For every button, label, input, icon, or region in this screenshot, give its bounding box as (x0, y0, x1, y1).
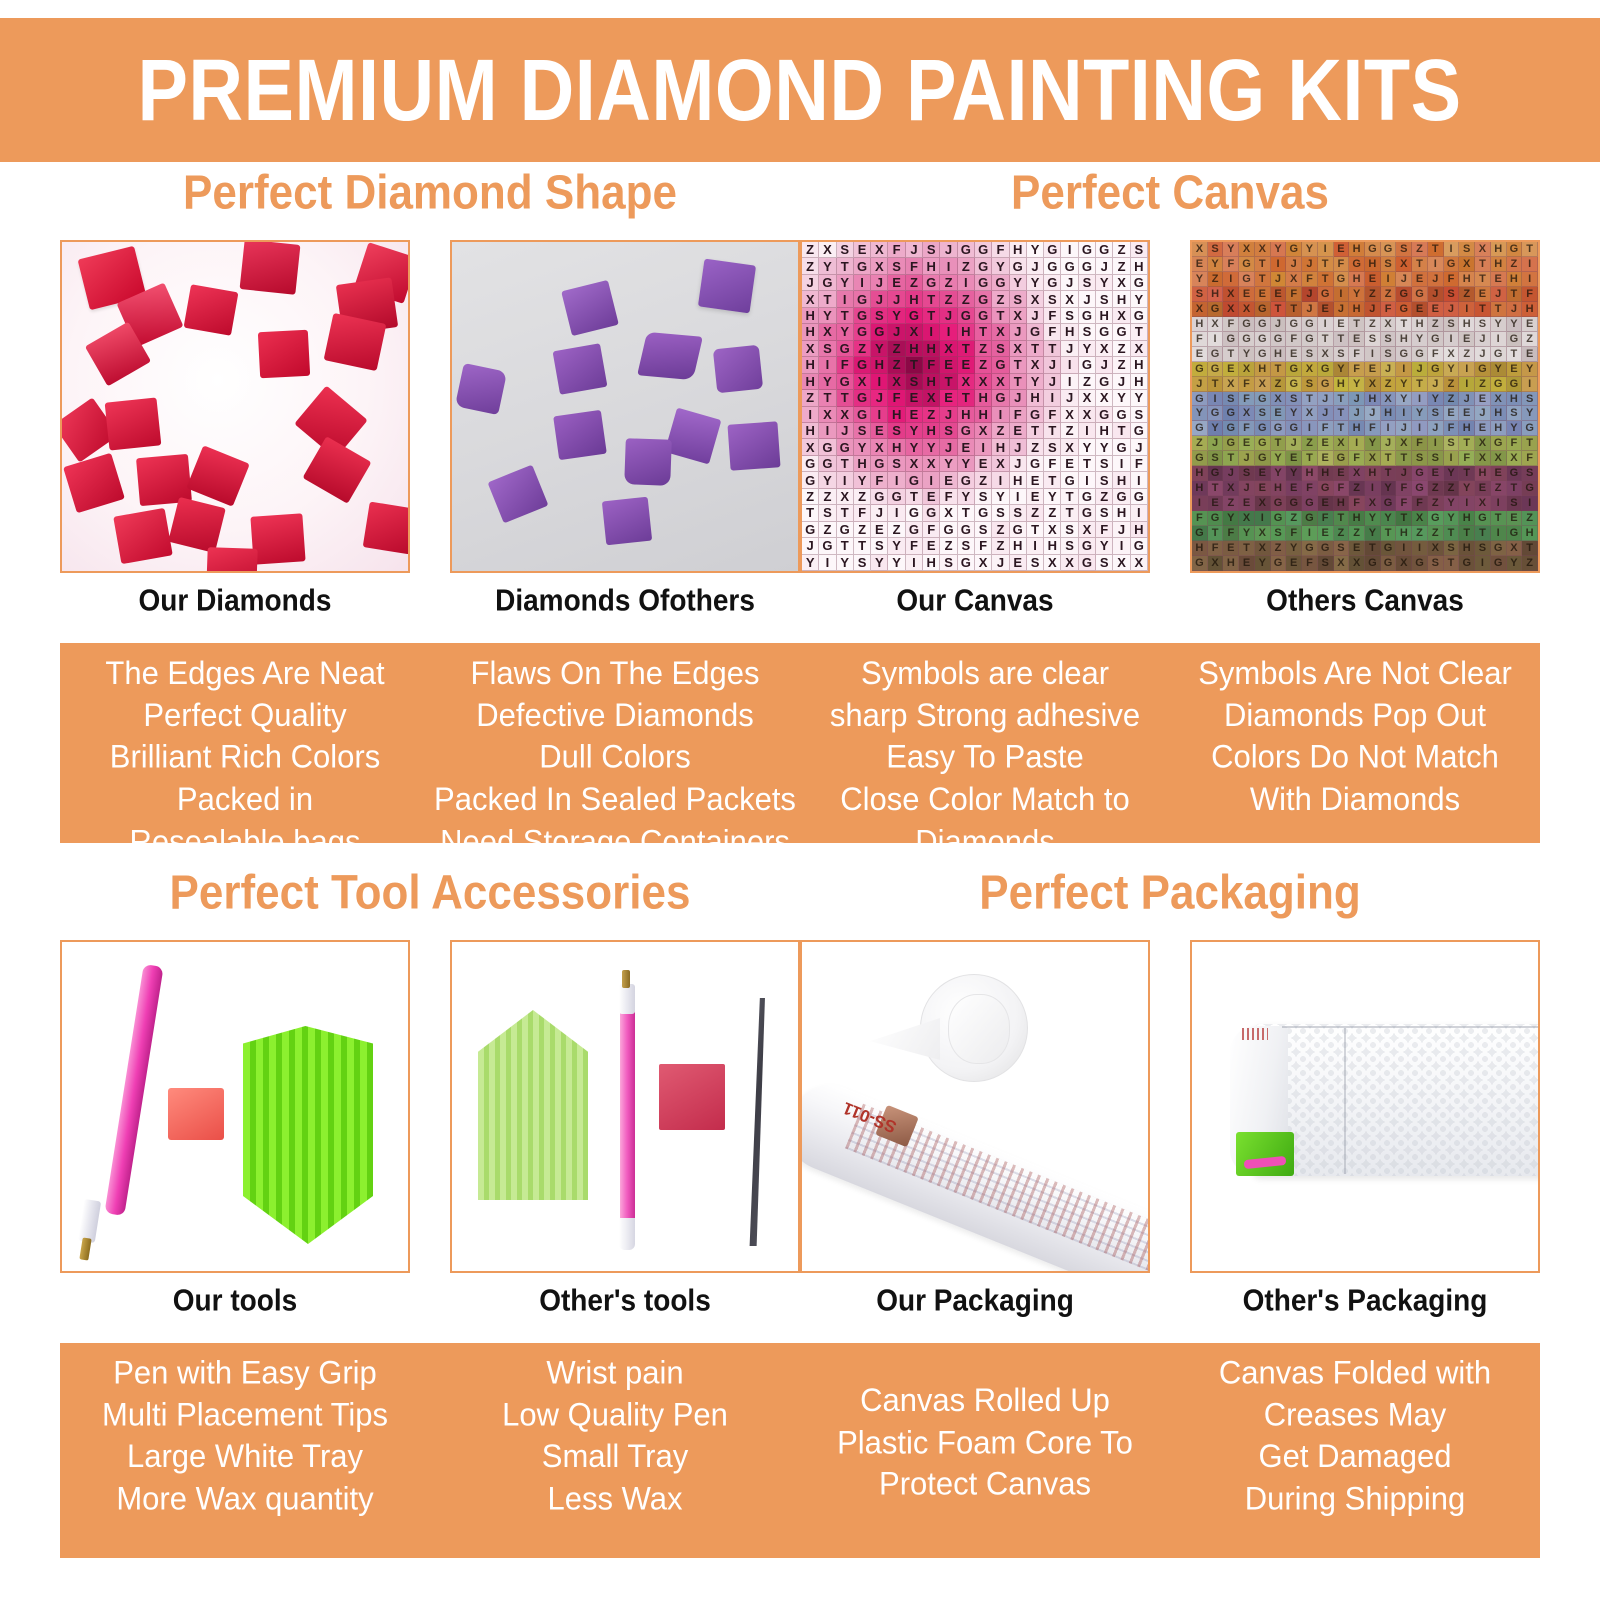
canvas-symbol-cell: H (1192, 466, 1208, 481)
canvas-symbol-cell: H (1491, 421, 1507, 436)
canvas-symbol-cell: F (871, 472, 888, 488)
canvas-symbol-cell: S (1192, 287, 1208, 302)
canvas-symbol-cell: I (819, 423, 836, 439)
canvas-symbol-cell: E (1318, 451, 1334, 466)
canvas-symbol-cell: T (819, 390, 836, 406)
bubble-mailer-crease2-shape (1344, 1028, 1346, 1174)
canvas-symbol-cell: Y (854, 472, 871, 488)
canvas-symbol-cell: T (1255, 272, 1271, 287)
bullet-item: Defective Diamonds (434, 694, 796, 736)
canvas-symbol-cell: F (1349, 451, 1365, 466)
canvas-symbol-cell: G (819, 456, 836, 472)
canvas-symbol-cell: S (940, 423, 957, 439)
canvas-symbol-cell: Z (1475, 377, 1491, 392)
canvas-symbol-cell: T (958, 390, 975, 406)
tweezers-shape (740, 998, 772, 1246)
canvas-symbol-cell: X (1302, 406, 1318, 421)
canvas-symbol-cell: Y (1444, 496, 1460, 511)
canvas-symbol-cell: G (1255, 317, 1271, 332)
canvas-symbol-cell: S (819, 505, 836, 521)
canvas-symbol-cell: Y (1079, 341, 1096, 357)
canvas-symbol-cell: J (802, 538, 819, 554)
canvas-symbol-cell: G (1318, 377, 1334, 392)
canvas-symbol-cell: X (1475, 436, 1491, 451)
section-canvas: Perfect Canvas ZXSEXFJSJGGFHYGIGGZSZYTGX… (800, 168, 1540, 843)
canvas-symbol-cell: E (1255, 287, 1271, 302)
canvas-symbol-cell: X (992, 456, 1009, 472)
canvas-symbol-cell: G (1302, 541, 1318, 556)
canvas-symbol-cell: X (1096, 341, 1113, 357)
canvas-symbol-cell: G (1396, 347, 1412, 362)
canvas-symbol-cell: G (1061, 472, 1078, 488)
canvas-symbol-cell: S (992, 341, 1009, 357)
canvas-symbol-cell: H (1475, 466, 1491, 481)
canvas-symbol-cell: E (1428, 302, 1444, 317)
pink-pen-shape (104, 964, 163, 1216)
canvas-symbol-cell: G (975, 505, 992, 521)
canvas-symbol-cell: Y (906, 423, 923, 439)
canvas-symbol-cell: T (1507, 287, 1523, 302)
canvas-symbol-cell: I (819, 555, 836, 571)
canvas-symbol-cell: S (1381, 347, 1397, 362)
canvas-symbol-cell: Y (1302, 242, 1318, 257)
canvas-symbol-cell: Y (1044, 489, 1061, 505)
canvas-symbol-cell: Y (1131, 291, 1148, 307)
canvas-symbol-cell: J (1428, 287, 1444, 302)
canvas-symbol-cell: X (1223, 481, 1239, 496)
canvas-symbol-cell: H (958, 324, 975, 340)
canvas-symbol-cell: S (1079, 275, 1096, 291)
header-banner: PREMIUM DIAMOND PAINTING KITS (0, 18, 1600, 162)
canvas-symbol-cell: T (837, 456, 854, 472)
canvas-symbol-cell: G (1255, 347, 1271, 362)
canvas-symbol-cell: X (975, 423, 992, 439)
canvas-symbol-cell: I (975, 439, 992, 455)
canvas-symbol-cell: E (1239, 496, 1255, 511)
canvas-symbol-cell: G (1396, 302, 1412, 317)
mailer-label-strip-shape (1242, 1028, 1268, 1040)
canvas-symbol-cell: S (1507, 406, 1523, 421)
canvas-symbol-cell: I (1349, 436, 1365, 451)
canvas-symbol-cell: F (1044, 324, 1061, 340)
canvas-symbol-cell: H (1349, 421, 1365, 436)
canvas-symbol-cell: J (837, 423, 854, 439)
canvas-symbol-cell: Z (1522, 556, 1538, 571)
canvas-symbol-cell: G (1318, 287, 1334, 302)
canvas-symbol-cell: T (1318, 272, 1334, 287)
canvas-symbol-cell: E (975, 456, 992, 472)
canvas-symbol-cell: I (1271, 257, 1287, 272)
canvas-symbol-cell: I (1302, 526, 1318, 541)
canvas-symbol-cell: S (1131, 407, 1148, 423)
bullets-other-packaging: Canvas Folded with Creases May Get Damag… (1170, 1352, 1540, 1546)
canvas-symbol-cell: Z (1428, 496, 1444, 511)
canvas-symbol-cell: E (958, 357, 975, 373)
canvas-symbol-cell: H (1131, 374, 1148, 390)
canvas-symbol-cell: G (958, 555, 975, 571)
canvas-symbol-cell: H (1522, 526, 1538, 541)
canvas-symbol-cell: G (1334, 272, 1350, 287)
canvas-symbol-cell: X (1396, 556, 1412, 571)
section-diamond-shape: Perfect Diamond Shape (60, 168, 800, 843)
canvas-symbol-cell: T (1131, 324, 1148, 340)
canvas-symbol-cell: J (1396, 421, 1412, 436)
canvas-symbol-cell: I (1491, 496, 1507, 511)
canvas-symbol-cell: H (888, 407, 905, 423)
canvas-symbol-cell: X (1428, 541, 1444, 556)
small-green-tray-shape (478, 1010, 588, 1200)
infographic-page: PREMIUM DIAMOND PAINTING KITS Perfect Di… (0, 0, 1600, 1600)
canvas-symbol-cell: Y (819, 258, 836, 274)
other-tools-photo (450, 940, 800, 1273)
bullets-box-diamond-shape: The Edges Are Neat Perfect Quality Brill… (60, 643, 800, 843)
canvas-symbol-cell: Z (940, 538, 957, 554)
red-square-diamonds-photo (60, 240, 410, 573)
canvas-symbol-cell: E (923, 489, 940, 505)
canvas-symbol-cell: G (1491, 377, 1507, 392)
canvas-symbol-cell: S (1444, 317, 1460, 332)
canvas-symbol-cell: T (1044, 472, 1061, 488)
canvas-symbol-cell: H (1255, 362, 1271, 377)
canvas-symbol-cell: E (1365, 272, 1381, 287)
other-wax-square-shape (659, 1064, 725, 1130)
canvas-symbol-cell: T (975, 324, 992, 340)
canvas-symbol-cell: G (1027, 324, 1044, 340)
canvas-symbol-cell: Y (1239, 526, 1255, 541)
canvas-symbol-cell: T (1079, 456, 1096, 472)
canvas-symbol-cell: G (1491, 347, 1507, 362)
canvas-symbol-cell: H (802, 423, 819, 439)
canvas-symbol-cell: F (1208, 541, 1224, 556)
canvas-symbol-cell: E (1239, 436, 1255, 451)
canvas-symbol-cell: I (1475, 556, 1491, 571)
canvas-symbol-cell: J (1302, 287, 1318, 302)
canvas-symbol-cell: G (819, 538, 836, 554)
canvas-symbol-cell: T (802, 505, 819, 521)
bullet-item: Get Damaged (1174, 1436, 1536, 1478)
pen-ferrule-shape (78, 1199, 101, 1243)
canvas-symbol-cell: T (837, 390, 854, 406)
canvas-symbol-cell: Z (854, 522, 871, 538)
canvas-symbol-cell: X (923, 390, 940, 406)
canvas-symbol-cell: T (1061, 489, 1078, 505)
canvas-symbol-cell: G (1061, 258, 1078, 274)
canvas-symbol-cell: T (1044, 423, 1061, 439)
canvas-symbol-cell: E (1365, 362, 1381, 377)
canvas-symbol-cell: X (1381, 317, 1397, 332)
canvas-symbol-cell: T (1010, 357, 1027, 373)
canvas-symbol-cell: X (1239, 302, 1255, 317)
canvas-symbol-cell: T (837, 505, 854, 521)
canvas-symbol-cell: G (958, 308, 975, 324)
canvas-symbol-cell: Z (975, 472, 992, 488)
canvas-symbol-cell: Z (1113, 341, 1130, 357)
canvas-symbol-cell: H (1522, 302, 1538, 317)
canvas-symbol-cell: J (1428, 421, 1444, 436)
canvas-symbol-cell: S (992, 505, 1009, 521)
canvas-symbol-cell: J (1428, 377, 1444, 392)
canvas-symbol-cell: E (940, 472, 957, 488)
canvas-symbol-cell: G (1475, 362, 1491, 377)
canvas-symbol-cell: Y (1027, 242, 1044, 258)
canvas-symbol-cell: F (1302, 556, 1318, 571)
canvas-symbol-cell: S (819, 341, 836, 357)
canvas-symbol-cell: I (1365, 347, 1381, 362)
canvas-symbol-cell: Y (871, 555, 888, 571)
canvas-symbol-cell: F (1318, 421, 1334, 436)
canvas-symbol-cell: F (906, 258, 923, 274)
canvas-symbol-cell: S (1010, 505, 1027, 521)
canvas-symbol-cell: G (1239, 332, 1255, 347)
canvas-symbol-cell: J (1302, 257, 1318, 272)
canvas-symbol-cell: T (1113, 423, 1130, 439)
canvas-symbol-cell: G (975, 308, 992, 324)
canvas-symbol-cell: I (1522, 272, 1538, 287)
canvas-symbol-cell: G (1255, 392, 1271, 407)
bullet-item: Canvas Folded with (1174, 1352, 1536, 1394)
canvas-symbol-cell: Z (992, 423, 1009, 439)
canvas-symbol-cell: G (1349, 257, 1365, 272)
canvas-symbol-cell: G (1318, 541, 1334, 556)
canvas-symbol-cell: T (1334, 332, 1350, 347)
canvas-symbol-cell: T (1318, 257, 1334, 272)
bullets-box-tools: Pen with Easy Grip Multi Placement Tips … (60, 1343, 800, 1558)
canvas-symbol-cell: E (1223, 541, 1239, 556)
canvas-symbol-cell: I (923, 324, 940, 340)
canvas-symbol-cell: F (1223, 257, 1239, 272)
canvas-symbol-cell: E (1349, 332, 1365, 347)
canvas-symbol-cell: Z (1428, 526, 1444, 541)
canvas-symbol-cell: Z (1044, 505, 1061, 521)
canvas-symbol-cell: X (1365, 377, 1381, 392)
column-our-diamonds: Our Diamonds (60, 240, 410, 617)
canvas-symbol-cell: T (1396, 451, 1412, 466)
canvas-symbol-cell: G (1507, 526, 1523, 541)
bullet-item: Diamonds Pop Out (1174, 694, 1536, 736)
canvas-symbol-cell: H (923, 555, 940, 571)
canvas-symbol-cell: F (906, 538, 923, 554)
canvas-symbol-cell: E (1318, 496, 1334, 511)
canvas-symbol-cell: Y (1444, 511, 1460, 526)
canvas-symbol-cell: T (1507, 481, 1523, 496)
canvas-symbol-cell: H (1507, 272, 1523, 287)
bullet-item: With Diamonds (1174, 778, 1536, 820)
canvas-symbol-cell: F (992, 242, 1009, 258)
canvas-symbol-cell: X (1381, 392, 1397, 407)
canvas-symbol-cell: I (1412, 421, 1428, 436)
bullet-item: Packed In Sealed Packets (434, 778, 796, 820)
canvas-symbol-cell: G (1507, 332, 1523, 347)
canvas-symbol-cell: G (1131, 423, 1148, 439)
canvas-symbol-cell: G (1079, 242, 1096, 258)
canvas-symbol-cell: G (1223, 436, 1239, 451)
canvas-symbol-cell: H (1459, 317, 1475, 332)
canvas-symbol-cell: J (1396, 272, 1412, 287)
canvas-symbol-cell: I (1318, 242, 1334, 257)
canvas-symbol-cell: I (1255, 511, 1271, 526)
canvas-symbol-cell: E (1239, 287, 1255, 302)
other-pink-pen-shape (620, 1008, 635, 1226)
canvas-symbol-cell: T (1459, 526, 1475, 541)
canvas-symbol-cell: H (1061, 324, 1078, 340)
canvas-symbol-cell: H (1349, 511, 1365, 526)
canvas-symbol-cell: J (1044, 374, 1061, 390)
canvas-symbol-cell: T (1302, 451, 1318, 466)
canvas-symbol-cell: E (1192, 257, 1208, 272)
canvas-symbol-cell: E (940, 390, 957, 406)
canvas-symbol-cell: I (1302, 421, 1318, 436)
canvas-symbol-cell: E (1349, 541, 1365, 556)
canvas-symbol-cell: X (1079, 407, 1096, 423)
canvas-symbol-cell: G (1412, 347, 1428, 362)
canvas-symbol-cell: X (1334, 556, 1350, 571)
canvas-symbol-cell: H (1208, 287, 1224, 302)
canvas-symbol-cell: E (1475, 287, 1491, 302)
canvas-symbol-cell: T (854, 538, 871, 554)
canvas-symbol-cell: G (975, 291, 992, 307)
canvas-symbol-cell: I (1381, 272, 1397, 287)
canvas-symbol-cell: Y (992, 258, 1009, 274)
section-title-tools: Perfect Tool Accessories (60, 866, 800, 921)
bullet-item: Creases May (1174, 1394, 1536, 1436)
photo-pair-diamond-shape: Our Diamonds Dia (60, 240, 800, 617)
canvas-symbol-cell: I (1428, 436, 1444, 451)
canvas-symbol-cell: F (1444, 421, 1460, 436)
canvas-symbol-cell: X (1286, 272, 1302, 287)
column-other-packaging: Other's Packaging (1190, 940, 1540, 1317)
canvas-symbol-cell: G (992, 390, 1009, 406)
canvas-symbol-cell: G (1286, 362, 1302, 377)
canvas-symbol-cell: Y (1286, 406, 1302, 421)
canvas-symbol-cell: Y (1223, 242, 1239, 257)
canvas-symbol-cell: G (802, 456, 819, 472)
canvas-symbol-cell: T (1349, 317, 1365, 332)
canvas-symbol-cell: S (1061, 308, 1078, 324)
canvas-symbol-cell: H (802, 374, 819, 390)
canvas-symbol-cell: F (923, 357, 940, 373)
canvas-symbol-cell: G (837, 439, 854, 455)
canvas-symbol-cell: X (1365, 496, 1381, 511)
canvas-symbol-cell: G (871, 456, 888, 472)
canvas-symbol-cell: F (1131, 456, 1148, 472)
canvas-symbol-cell: H (1027, 390, 1044, 406)
canvas-symbol-cell: I (1444, 451, 1460, 466)
canvas-symbol-cell: Y (1412, 406, 1428, 421)
canvas-symbol-cell: T (1396, 317, 1412, 332)
canvas-symbol-cell: I (888, 505, 905, 521)
canvas-symbol-cell: G (1208, 466, 1224, 481)
canvas-symbol-cell: X (1208, 556, 1224, 571)
canvas-symbol-cell: H (1349, 272, 1365, 287)
canvas-symbol-cell: H (1010, 472, 1027, 488)
canvas-symbol-cell: S (1286, 392, 1302, 407)
canvas-symbol-cell: E (1271, 406, 1287, 421)
canvas-symbol-cell: T (819, 291, 836, 307)
canvas-symbol-cell: G (1381, 556, 1397, 571)
canvas-symbol-cell: G (1255, 451, 1271, 466)
canvas-symbol-cell: E (1522, 317, 1538, 332)
section-title-diamond-shape: Perfect Diamond Shape (60, 166, 800, 221)
canvas-symbol-cell: H (906, 341, 923, 357)
canvas-symbol-cell: F (1444, 272, 1460, 287)
canvas-symbol-cell: I (1318, 317, 1334, 332)
canvas-symbol-cell: Y (923, 439, 940, 455)
canvas-symbol-cell: X (958, 374, 975, 390)
canvas-symbol-cell: Y (1079, 439, 1096, 455)
canvas-symbol-cell: G (1302, 317, 1318, 332)
pen-tip-shape (79, 1237, 91, 1260)
canvas-symbol-cell: X (837, 489, 854, 505)
canvas-symbol-cell: X (1061, 439, 1078, 455)
canvas-symbol-cell: G (1079, 538, 1096, 554)
page-title: PREMIUM DIAMOND PAINTING KITS (138, 39, 1462, 141)
canvas-symbol-cell: H (871, 357, 888, 373)
bullets-other-diamonds: Flaws On The Edges Defective Diamonds Du… (430, 652, 800, 830)
canvas-symbol-cell: X (1113, 308, 1130, 324)
canvas-symbol-cell: F (1349, 496, 1365, 511)
bullet-item: sharp Strong adhesive (804, 694, 1166, 736)
canvas-symbol-cell: X (1096, 390, 1113, 406)
canvas-symbol-cell: G (1131, 308, 1148, 324)
canvas-symbol-cell: G (1208, 511, 1224, 526)
canvas-symbol-cell: J (906, 242, 923, 258)
canvas-symbol-cell: Y (871, 341, 888, 357)
canvas-symbol-cell: H (1302, 466, 1318, 481)
canvas-symbol-cell: S (1208, 242, 1224, 257)
canvas-symbol-cell: G (1365, 242, 1381, 257)
canvas-symbol-cell: T (1255, 257, 1271, 272)
canvas-symbol-cell: Z (802, 242, 819, 258)
canvas-symbol-cell: S (854, 555, 871, 571)
canvas-symbol-cell: H (1396, 526, 1412, 541)
canvas-symbol-cell: H (1271, 481, 1287, 496)
bullets-row-diamond-shape: The Edges Are Neat Perfect Quality Brill… (60, 643, 800, 843)
canvas-symbol-cell: X (802, 291, 819, 307)
canvas-symbol-cell: Z (992, 291, 1009, 307)
canvas-symbol-cell: G (1079, 555, 1096, 571)
canvas-symbol-cell: Y (802, 555, 819, 571)
canvas-symbol-cell: Y (819, 308, 836, 324)
canvas-symbol-cell: H (1349, 302, 1365, 317)
canvas-symbol-cell: S (1444, 436, 1460, 451)
canvas-symbol-cell: I (1396, 406, 1412, 421)
canvas-symbol-cell: X (1507, 541, 1523, 556)
canvas-symbol-cell: G (1507, 466, 1523, 481)
canvas-symbol-cell: F (1412, 436, 1428, 451)
canvas-symbol-cell: E (1334, 466, 1350, 481)
canvas-symbol-cell: G (1208, 362, 1224, 377)
canvas-symbol-cell: J (871, 505, 888, 521)
canvas-symbol-cell: Y (1027, 275, 1044, 291)
canvas-symbol-cell: X (1349, 466, 1365, 481)
canvas-symbol-cell: G (1096, 242, 1113, 258)
canvas-symbol-cell: I (958, 275, 975, 291)
canvas-symbol-cell: Y (1365, 436, 1381, 451)
canvas-symbol-cell: S (1223, 392, 1239, 407)
canvas-symbol-cell: Z (1428, 481, 1444, 496)
canvas-symbol-cell: F (1365, 421, 1381, 436)
canvas-symbol-cell: F (1223, 526, 1239, 541)
canvas-symbol-cell: Y (1507, 317, 1523, 332)
canvas-symbol-cell: G (819, 439, 836, 455)
canvas-symbol-cell: Z (906, 275, 923, 291)
canvas-symbol-cell: F (888, 390, 905, 406)
canvas-symbol-cell: G (1255, 436, 1271, 451)
canvas-symbol-cell: G (1079, 258, 1096, 274)
canvas-symbol-cell: E (1061, 456, 1078, 472)
canvas-symbol-cell: F (1286, 526, 1302, 541)
canvas-symbol-cell: S (1131, 242, 1148, 258)
